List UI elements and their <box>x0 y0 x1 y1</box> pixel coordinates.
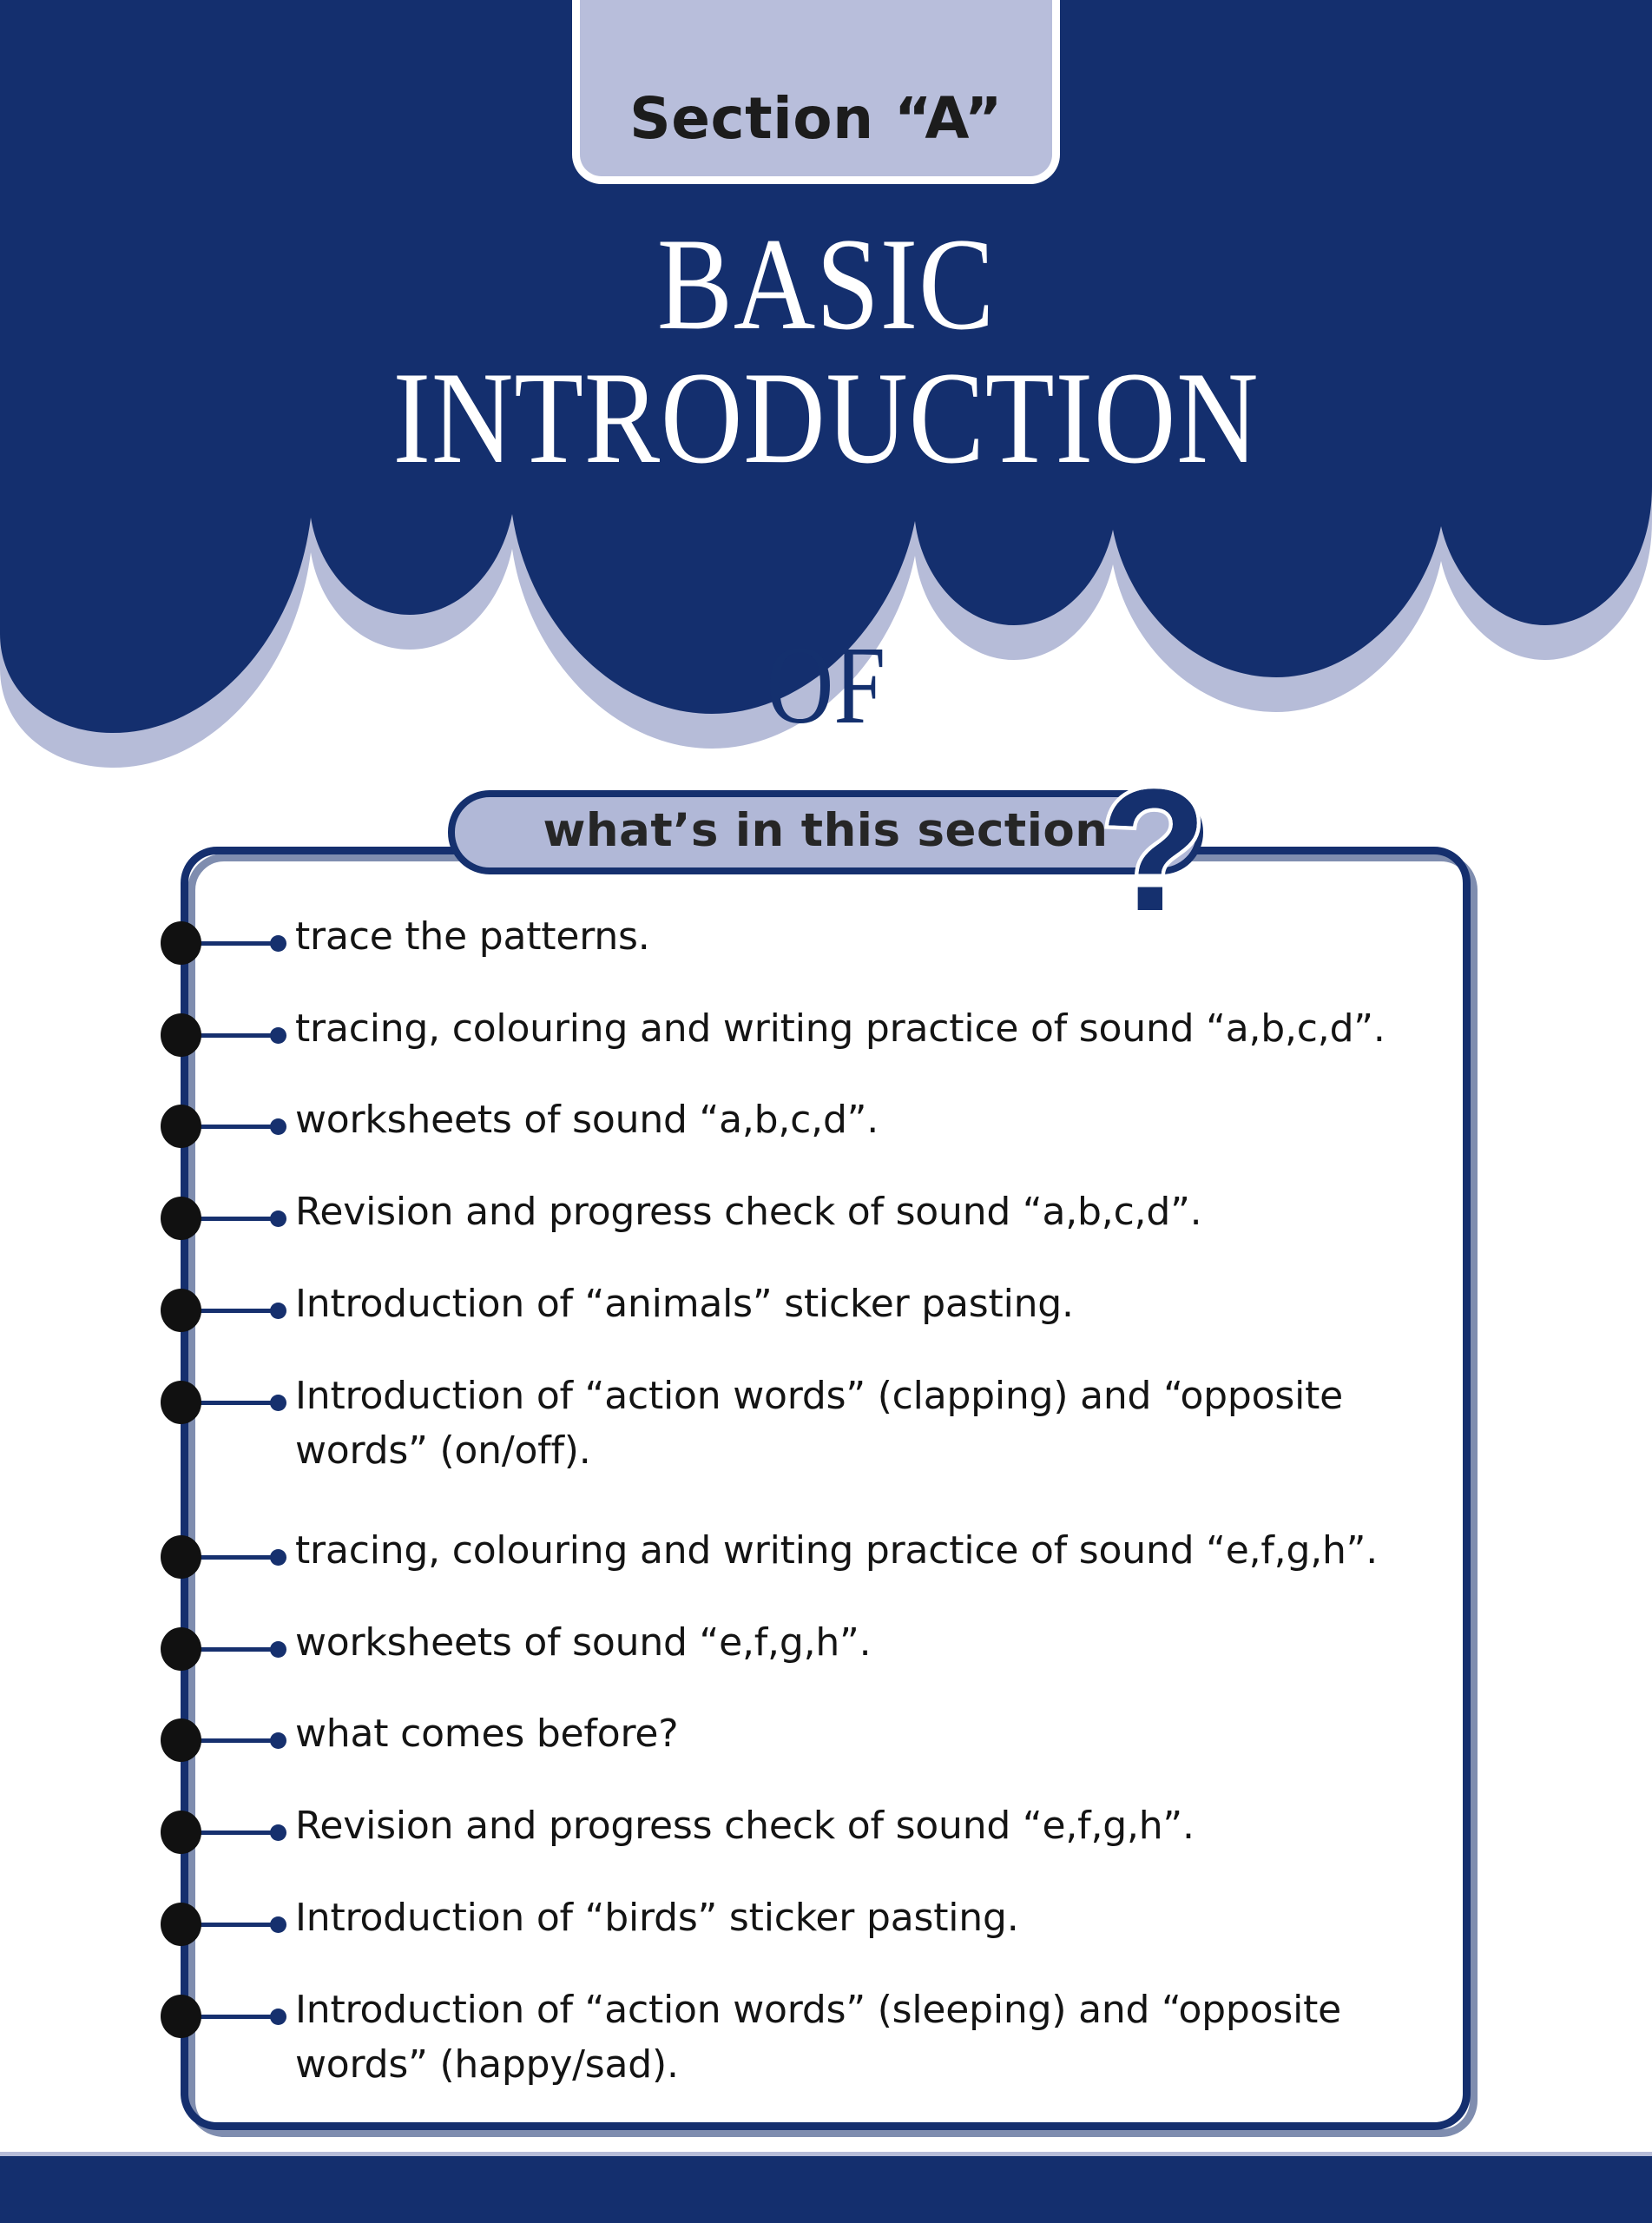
connector-line <box>201 1033 274 1038</box>
title-line-basic: BASIC <box>115 221 1537 348</box>
list-item-label: worksheets of sound “e,f,g,h”. <box>295 1616 1415 1670</box>
bullet-dot-icon <box>270 935 286 952</box>
bullet-node-icon <box>161 1197 201 1240</box>
bullet-node-icon <box>161 1811 201 1854</box>
connector-line <box>201 941 274 946</box>
list-item-label: Introduction of “animals” sticker pastin… <box>295 1277 1415 1331</box>
bullet-dot-icon <box>270 1916 286 1933</box>
list-item-label: trace the patterns. <box>295 910 1415 964</box>
bullet-dot-icon <box>270 1732 286 1749</box>
section-tab[interactable]: Section “A” <box>572 0 1060 184</box>
list-item-label: Revision and progress check of sound “a,… <box>295 1185 1415 1239</box>
bullet-node-icon <box>161 1903 201 1946</box>
bullet-node-icon <box>161 1995 201 2038</box>
connector-line <box>201 1738 274 1743</box>
connector-line <box>201 1309 274 1313</box>
bullet-dot-icon <box>270 1824 286 1841</box>
list-item-label: Introduction of “action words” (sleeping… <box>295 1983 1415 2092</box>
list-item-label: worksheets of sound “a,b,c,d”. <box>295 1093 1415 1147</box>
bullet-node-icon <box>161 1718 201 1762</box>
bullet-dot-icon <box>270 1118 286 1135</box>
bullet-node-icon <box>161 1627 201 1671</box>
list-item-label: tracing, colouring and writing practice … <box>295 1002 1415 1056</box>
bullet-dot-icon <box>270 1641 286 1658</box>
bullet-node-icon <box>161 1381 201 1424</box>
bullet-dot-icon <box>270 1303 286 1319</box>
connector-line <box>201 1217 274 1221</box>
list-item-label: Revision and progress check of sound “e,… <box>295 1799 1415 1853</box>
connector-line <box>201 1831 274 1835</box>
bullet-dot-icon <box>270 1549 286 1566</box>
banner-label: what’s in this section <box>543 804 1108 857</box>
worksheet-page: Section “A” BASIC INTRODUCTION OF what’s… <box>0 0 1652 2223</box>
list-item-label: Introduction of “action words” (clapping… <box>295 1369 1415 1478</box>
bullet-node-icon <box>161 921 201 965</box>
bullet-node-icon <box>161 1289 201 1332</box>
title-line-introduction: INTRODUCTION <box>115 355 1537 482</box>
bullet-dot-icon <box>270 1210 286 1227</box>
section-tab-label: Section “A” <box>629 85 1003 176</box>
connector-line <box>201 1923 274 1927</box>
bullet-dot-icon <box>270 1027 286 1044</box>
title-line-of: OF <box>132 630 1520 741</box>
list-item-label: tracing, colouring and writing practice … <box>295 1524 1415 1578</box>
bullet-node-icon <box>161 1105 201 1148</box>
connector-line <box>201 1401 274 1405</box>
connector-line <box>201 1647 274 1652</box>
connector-line <box>201 2015 274 2019</box>
footer-bar <box>0 2152 1652 2223</box>
bullet-node-icon <box>161 1535 201 1579</box>
bullet-node-icon <box>161 1013 201 1057</box>
list-item-label: what comes before? <box>295 1707 1415 1761</box>
page-title: BASIC INTRODUCTION <box>0 221 1652 482</box>
connector-line <box>201 1125 274 1129</box>
connector-line <box>201 1555 274 1560</box>
list-item-label: Introduction of “birds” sticker pasting. <box>295 1891 1415 1945</box>
whats-in-this-section-banner[interactable]: what’s in this section <box>448 790 1203 874</box>
